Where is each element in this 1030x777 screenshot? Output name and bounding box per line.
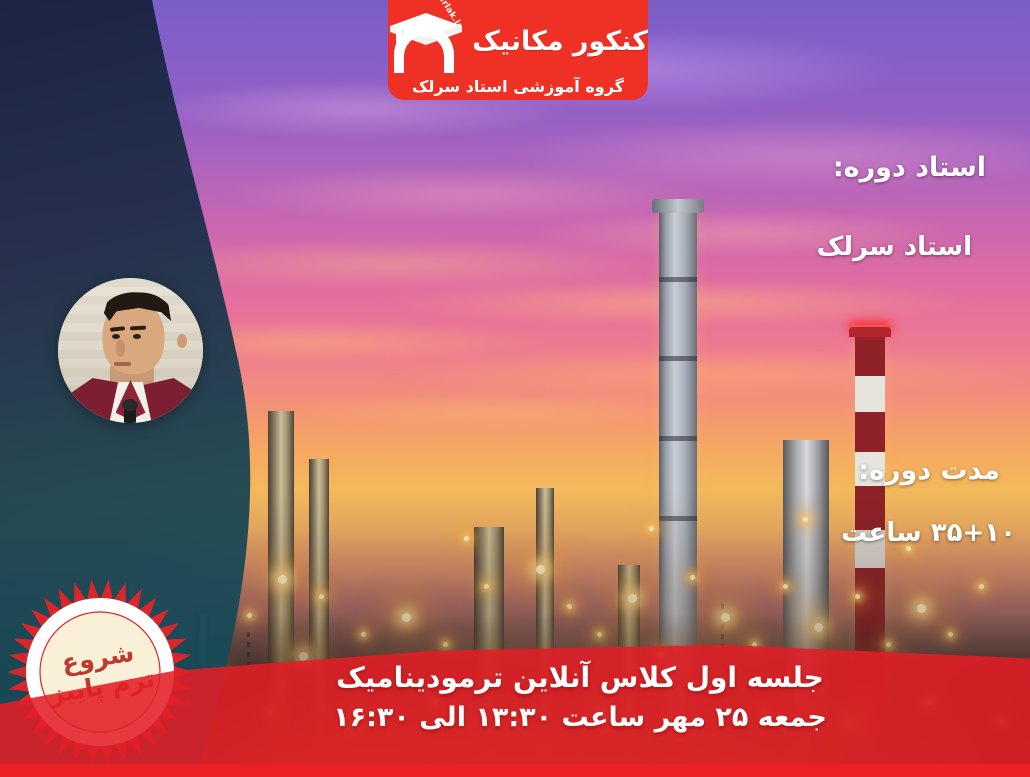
instructor-label: استاد دوره: <box>776 152 986 184</box>
promo-poster: کنکور مکانیک OstadSarlak.ir گروه آموزشی … <box>0 0 1030 777</box>
banner-datetime: جمعه ۲۵ مهر ساعت ۱۳:۳۰ الی ۱۶:۳۰ <box>333 702 827 733</box>
microphone-icon <box>124 404 136 423</box>
session-announcement-text: جلسه اول کلاس آنلاین ترمودینامیک جمعه ۲۵… <box>0 625 1030 777</box>
logo-subtitle: گروه آموزشی استاد سرلک <box>412 78 624 96</box>
duration-label: مدت دوره: <box>790 455 1000 487</box>
graduation-cap-icon: OstadSarlak.ir <box>388 9 466 75</box>
banner-bottom-bar <box>0 764 1030 777</box>
duration-value: ۳۵+۱۰ ساعت <box>786 518 1016 549</box>
banner-title: جلسه اول کلاس آنلاین ترمودینامیک <box>336 661 824 694</box>
instructor-portrait-avatar <box>58 278 203 423</box>
logo-title: کنکور مکانیک <box>472 28 648 56</box>
brand-logo-badge[interactable]: کنکور مکانیک OstadSarlak.ir گروه آموزشی … <box>388 0 648 100</box>
instructor-name: استاد سرلک <box>772 232 972 263</box>
